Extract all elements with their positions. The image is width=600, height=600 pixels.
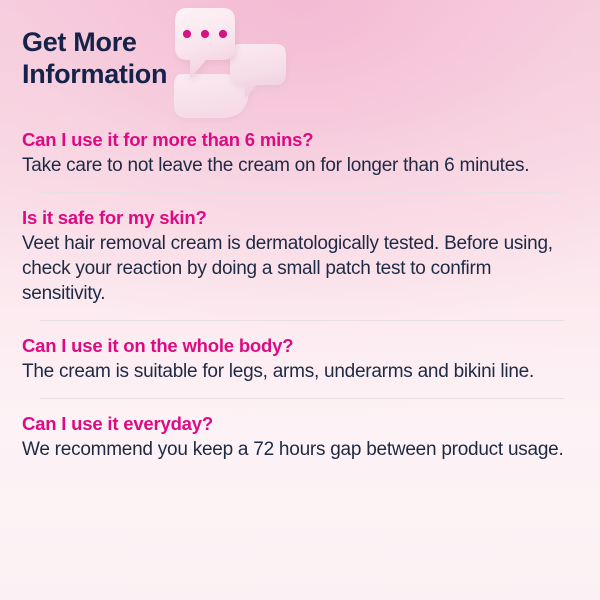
faq-question: Can I use it everyday? (22, 412, 578, 435)
faq-divider (40, 398, 564, 399)
faq-answer: The cream is suitable for legs, arms, un… (22, 359, 570, 384)
faq-question: Can I use it for more than 6 mins? (22, 128, 578, 151)
faq-answer: Take care to not leave the cream on for … (22, 153, 570, 178)
faq-item: Can I use it on the whole body?The cream… (0, 334, 600, 399)
faq-item: Can I use it everyday?We recommend you k… (0, 412, 600, 462)
page-title-line-2: Information (22, 58, 442, 90)
faq-answer: We recommend you keep a 72 hours gap bet… (22, 437, 570, 462)
faq-list: Can I use it for more than 6 mins?Take c… (0, 128, 600, 462)
faq-divider (40, 192, 564, 193)
faq-item: Is it safe for my skin?Veet hair removal… (0, 206, 600, 321)
faq-question: Can I use it on the whole body? (22, 334, 578, 357)
faq-card: Get More Information Can I use it for mo… (0, 0, 600, 600)
page-title-line-1: Get More (22, 26, 442, 58)
faq-question: Is it safe for my skin? (22, 206, 578, 229)
faq-item: Can I use it for more than 6 mins?Take c… (0, 128, 600, 193)
page-title: Get More Information (22, 26, 442, 90)
faq-answer: Veet hair removal cream is dermatologica… (22, 231, 570, 306)
faq-divider (40, 320, 564, 321)
